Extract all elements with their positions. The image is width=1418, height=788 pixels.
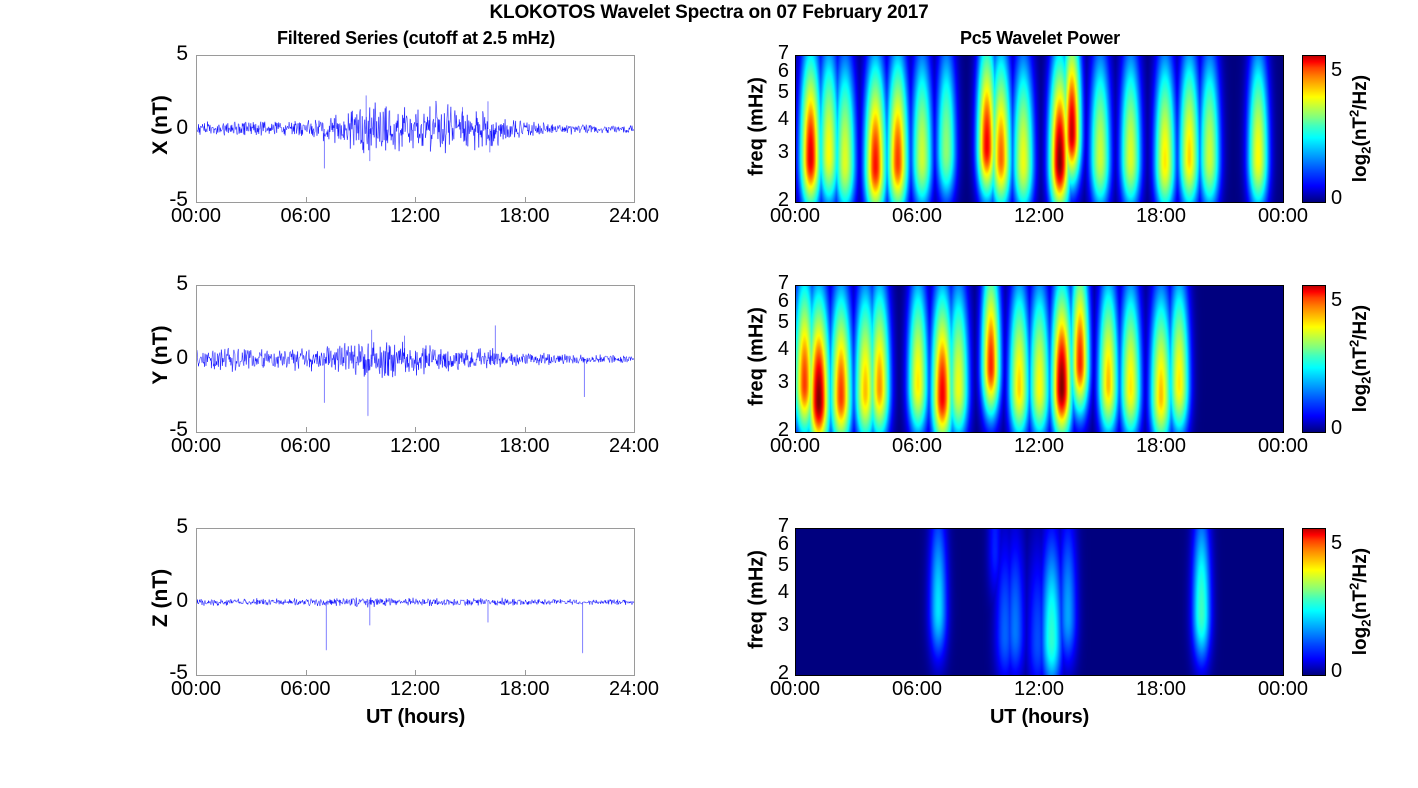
colorbar-X: [1302, 55, 1326, 203]
x-tick-ts-Z-1: 06:00: [261, 678, 351, 701]
x-tick-sp-X-1: 06:00: [872, 205, 962, 228]
x-tick-ts-Z-2: 12:00: [370, 678, 460, 701]
colorbar-label-X: log2(nT2/Hz): [1346, 44, 1373, 214]
left-column-title: Filtered Series (cutoff at 2.5 mHz): [196, 28, 636, 49]
time-series-panel-X: [196, 55, 635, 203]
x-tick-sp-Z-4: 00:00: [1238, 678, 1328, 701]
freq-tick-Z-3: 4: [763, 581, 789, 604]
x-tick-ts-X-4: 24:00: [589, 205, 679, 228]
x-tick-sp-Y-3: 18:00: [1116, 435, 1206, 458]
time-series-trace-Z: [197, 529, 634, 675]
colorbar-tick-min-Y: 0: [1331, 417, 1342, 440]
x-tick-sp-Z-1: 06:00: [872, 678, 962, 701]
y-tick-Y-1: 0: [154, 346, 188, 370]
freq-tick-X-3: 4: [763, 108, 789, 131]
y-tick-X-1: 0: [154, 116, 188, 140]
time-series-panel-Y: [196, 285, 635, 433]
x-tickmark-ts-Y-2: [415, 427, 416, 433]
freq-tick-Z-4: 3: [763, 614, 789, 637]
x-tick-sp-Z-2: 12:00: [994, 678, 1084, 701]
colorbar-tick-min-Z: 0: [1331, 660, 1342, 683]
freq-tick-Y-2: 5: [763, 311, 789, 334]
spectrogram-panel-X: [795, 55, 1284, 203]
x-tickmark-ts-Z-1: [306, 670, 307, 676]
spectrogram-image-Y: [796, 286, 1283, 432]
x-tick-ts-Y-2: 12:00: [370, 435, 460, 458]
x-tickmark-ts-Y-1: [306, 427, 307, 433]
x-tickmark-ts-X-1: [306, 197, 307, 203]
colorbar-tick-max-Y: 5: [1331, 289, 1342, 312]
x-tick-sp-X-4: 00:00: [1238, 205, 1328, 228]
x-tick-ts-X-2: 12:00: [370, 205, 460, 228]
x-tickmark-ts-Z-2: [415, 670, 416, 676]
freq-tick-Y-3: 4: [763, 338, 789, 361]
x-axis-label-time-series: UT (hours): [266, 706, 566, 729]
x-tick-sp-Z-0: 00:00: [750, 678, 840, 701]
x-tick-ts-Z-0: 00:00: [151, 678, 241, 701]
x-tick-sp-X-2: 12:00: [994, 205, 1084, 228]
spectrogram-panel-Y: [795, 285, 1284, 433]
x-tickmark-ts-X-2: [415, 197, 416, 203]
freq-tick-X-2: 5: [763, 81, 789, 104]
x-tick-sp-X-0: 00:00: [750, 205, 840, 228]
x-tick-ts-X-0: 00:00: [151, 205, 241, 228]
x-tick-ts-X-1: 06:00: [261, 205, 351, 228]
x-tick-ts-Z-4: 24:00: [589, 678, 679, 701]
x-tick-ts-Y-1: 06:00: [261, 435, 351, 458]
colorbar-tick-min-X: 0: [1331, 187, 1342, 210]
x-tick-sp-Z-3: 18:00: [1116, 678, 1206, 701]
freq-tick-Y-4: 3: [763, 371, 789, 394]
spectrogram-image-Z: [796, 529, 1283, 675]
x-tick-sp-Y-0: 00:00: [750, 435, 840, 458]
y-tick-Z-1: 0: [154, 589, 188, 613]
x-tick-sp-Y-2: 12:00: [994, 435, 1084, 458]
x-tick-ts-Y-3: 18:00: [480, 435, 570, 458]
time-series-panel-Z: [196, 528, 635, 676]
x-axis-label-spectrogram: UT (hours): [890, 706, 1190, 729]
colorbar-tick-max-Z: 5: [1331, 532, 1342, 555]
spectrogram-panel-Z: [795, 528, 1284, 676]
x-tick-ts-Y-4: 24:00: [589, 435, 679, 458]
y-tick-Y-0: 5: [154, 272, 188, 296]
x-tick-ts-Z-3: 18:00: [480, 678, 570, 701]
x-tick-sp-Y-4: 00:00: [1238, 435, 1328, 458]
x-tick-sp-X-3: 18:00: [1116, 205, 1206, 228]
freq-tick-X-4: 3: [763, 141, 789, 164]
figure-title: KLOKOTOS Wavelet Spectra on 07 February …: [0, 2, 1418, 24]
x-tick-ts-X-3: 18:00: [480, 205, 570, 228]
colorbar-tick-max-X: 5: [1331, 59, 1342, 82]
x-tickmark-ts-X-3: [525, 197, 526, 203]
spectrogram-image-X: [796, 56, 1283, 202]
x-tickmark-ts-Z-3: [525, 670, 526, 676]
freq-tick-X-1: 6: [763, 60, 789, 83]
colorbar-label-Y: log2(nT2/Hz): [1346, 274, 1373, 444]
right-column-title: Pc5 Wavelet Power: [795, 28, 1285, 49]
y-tick-Z-0: 5: [154, 515, 188, 539]
colorbar-Y: [1302, 285, 1326, 433]
colorbar-Z: [1302, 528, 1326, 676]
freq-tick-Y-1: 6: [763, 290, 789, 313]
x-tickmark-ts-Y-3: [525, 427, 526, 433]
time-series-trace-X: [197, 56, 634, 202]
x-tick-sp-Y-1: 06:00: [872, 435, 962, 458]
freq-tick-Z-2: 5: [763, 554, 789, 577]
y-tick-X-0: 5: [154, 42, 188, 66]
time-series-trace-Y: [197, 286, 634, 432]
colorbar-label-Z: log2(nT2/Hz): [1346, 517, 1373, 687]
x-tick-ts-Y-0: 00:00: [151, 435, 241, 458]
freq-tick-Z-1: 6: [763, 533, 789, 556]
